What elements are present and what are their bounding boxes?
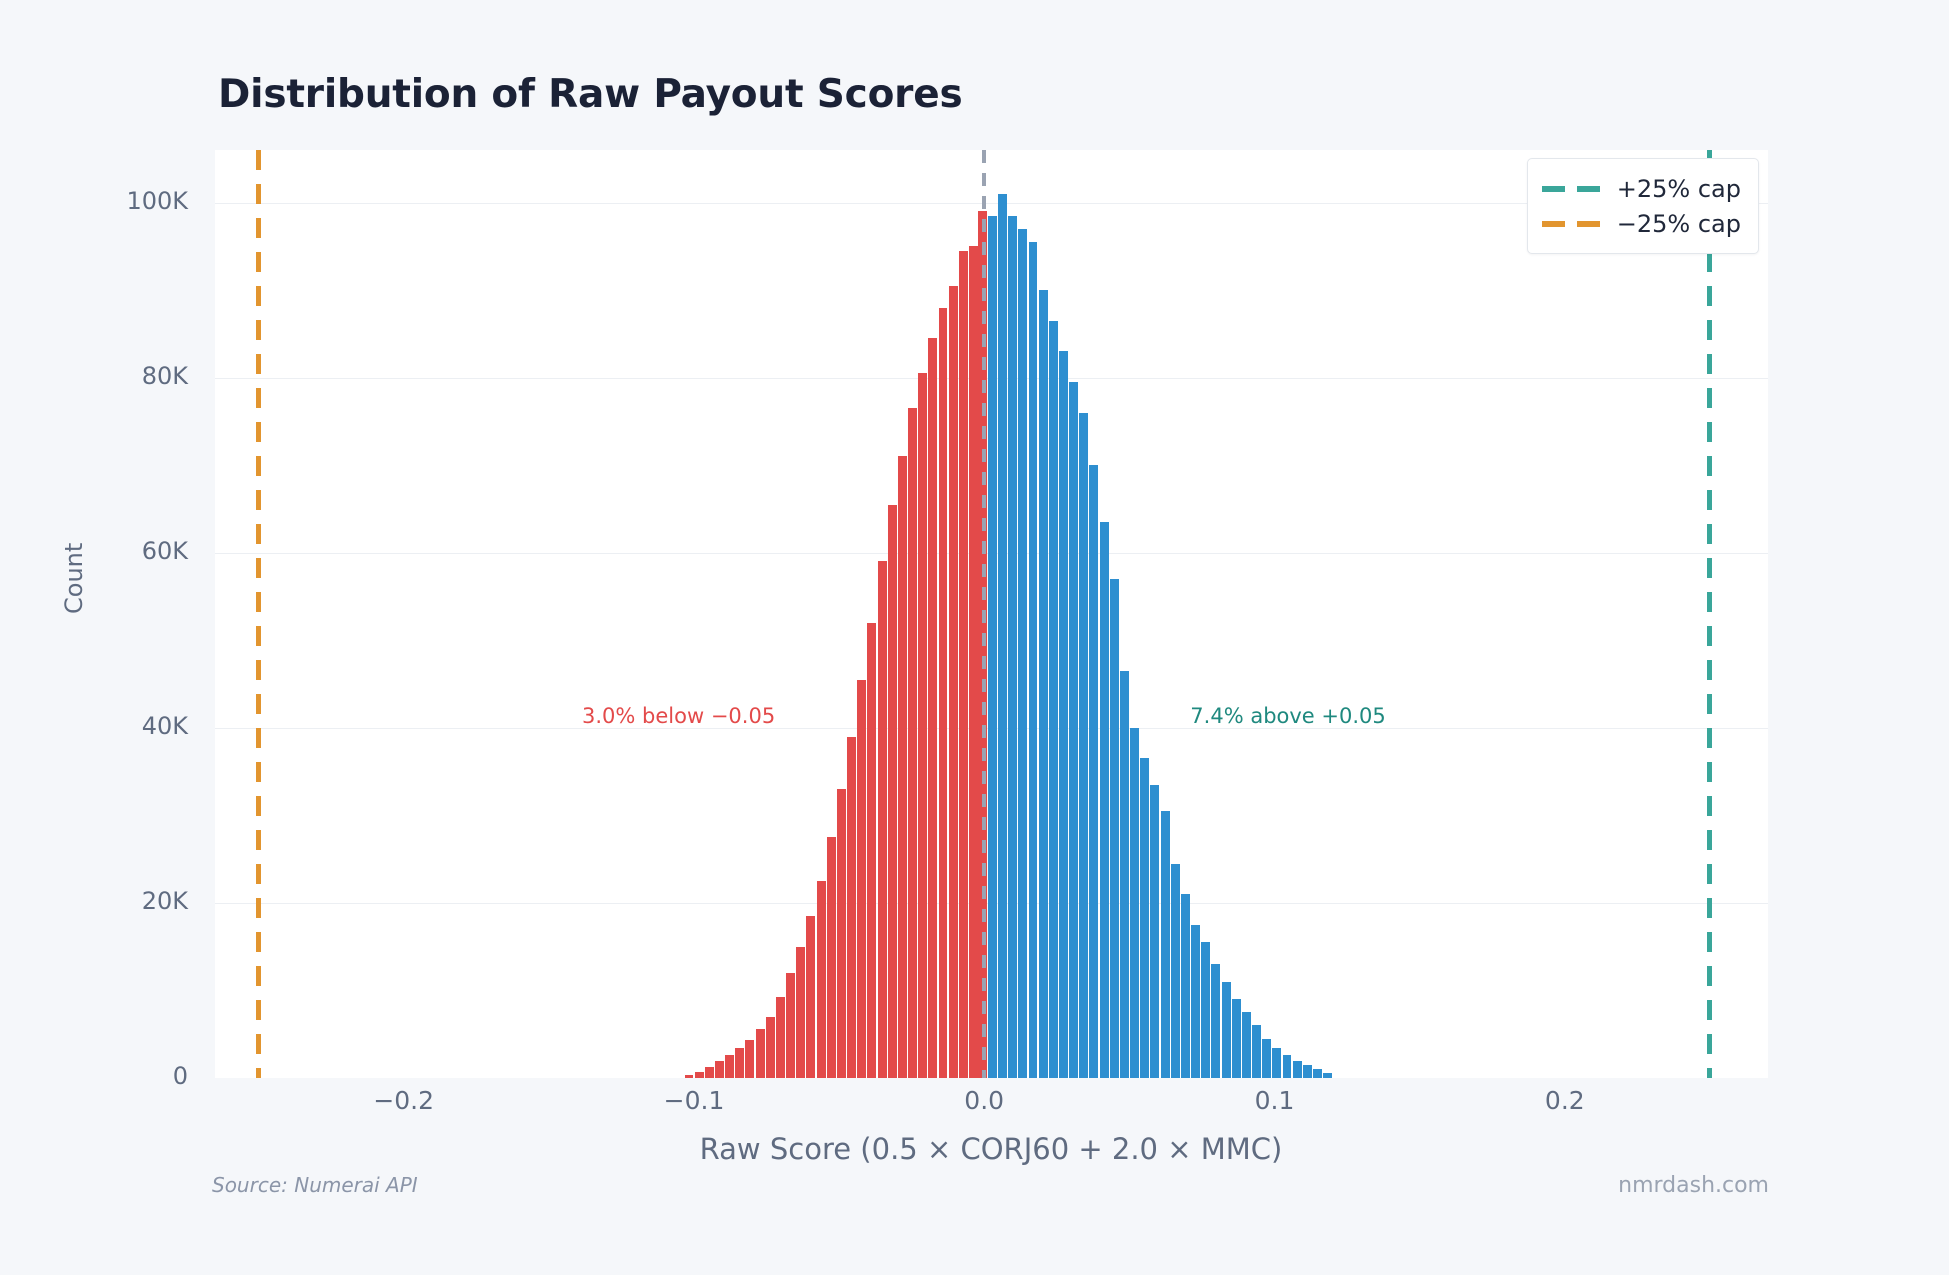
histogram-bar: [806, 916, 815, 1078]
y-axis-tick-label: 0: [173, 1062, 188, 1090]
legend-item-negative-cap[interactable]: −25% cap: [1542, 206, 1741, 241]
histogram-bar: [817, 881, 826, 1078]
histogram-bar: [827, 837, 836, 1078]
histogram-bar: [847, 737, 856, 1078]
chart-legend[interactable]: +25% cap −25% cap: [1527, 158, 1759, 254]
annotation-below-threshold: 3.0% below −0.05: [582, 704, 775, 728]
histogram-bar: [988, 216, 997, 1078]
legend-dash-icon-teal: [1542, 186, 1600, 192]
histogram-bar: [695, 1072, 704, 1078]
histogram-bar: [998, 194, 1007, 1078]
histogram-bar: [837, 789, 846, 1078]
histogram-bar: [1100, 522, 1109, 1078]
histogram-bar: [735, 1048, 744, 1078]
histogram-bar: [725, 1055, 734, 1078]
histogram-bar: [1029, 242, 1038, 1078]
histogram-bar: [1232, 999, 1241, 1078]
histogram-bar: [1039, 290, 1048, 1078]
histogram-bar: [1211, 964, 1220, 1078]
x-axis-label: Raw Score (0.5 × CORJ60 + 2.0 × MMC): [700, 1132, 1283, 1166]
histogram-bar: [1181, 894, 1190, 1078]
x-axis-tick-label: 0.1: [1255, 1086, 1295, 1115]
histogram-bar: [1242, 1012, 1251, 1078]
y-axis-tick-label: 20K: [142, 887, 188, 915]
annotation-above-threshold: 7.4% above +0.05: [1190, 704, 1385, 728]
y-axis-tick-label: 80K: [142, 362, 188, 390]
histogram-bar: [1140, 758, 1149, 1078]
legend-label-negative-cap: −25% cap: [1617, 210, 1741, 238]
histogram-bar: [1222, 982, 1231, 1078]
histogram-bar: [1130, 728, 1139, 1078]
histogram-bar: [857, 680, 866, 1078]
histogram-bar: [959, 251, 968, 1078]
histogram-bar: [1252, 1025, 1261, 1078]
histogram-bar: [756, 1029, 765, 1078]
histogram-bar: [766, 1017, 775, 1078]
x-axis-tick-label: 0.0: [964, 1086, 1004, 1115]
chart-figure: Distribution of Raw Payout Scores 020K40…: [0, 0, 1949, 1275]
histogram-bar: [969, 246, 978, 1078]
histogram-bar: [1283, 1055, 1292, 1078]
histogram-bar: [796, 947, 805, 1078]
histogram-bar: [715, 1061, 724, 1078]
watermark: nmrdash.com: [1618, 1173, 1769, 1198]
histogram-bar: [1323, 1073, 1332, 1078]
histogram-bar: [1008, 216, 1017, 1078]
histogram-bar: [898, 456, 907, 1078]
histogram-bar: [878, 561, 887, 1078]
histogram-bar: [1059, 351, 1068, 1078]
histogram-bar: [1262, 1039, 1271, 1078]
histogram-bar: [1120, 671, 1129, 1078]
histogram-bar: [1049, 321, 1058, 1078]
legend-dash-icon-orange: [1542, 221, 1600, 227]
histogram-bar: [888, 505, 897, 1078]
histogram-bar: [685, 1075, 694, 1078]
histogram-bar: [1313, 1069, 1322, 1078]
y-axis-tick-label: 100K: [126, 187, 188, 215]
histogram-bar: [1089, 465, 1098, 1078]
histogram-bar: [918, 373, 927, 1078]
histogram-bar: [705, 1067, 714, 1078]
y-axis-tick-label: 40K: [142, 712, 188, 740]
histogram-bar: [928, 338, 937, 1078]
histogram-bar: [1018, 229, 1027, 1078]
reference-line-zero-line: [982, 150, 986, 1078]
histogram-bar: [1272, 1048, 1281, 1078]
histogram-bar: [1161, 811, 1170, 1078]
histogram-bar: [867, 623, 876, 1078]
plot-area: 3.0% below −0.05 7.4% above +0.05 +25% c…: [215, 150, 1768, 1078]
legend-label-positive-cap: +25% cap: [1617, 175, 1741, 203]
histogram-bar: [1150, 785, 1159, 1078]
histogram-bar: [745, 1040, 754, 1078]
reference-line-negative-cap: [256, 150, 261, 1078]
histogram-bar: [1069, 382, 1078, 1078]
histogram-bar: [776, 997, 785, 1078]
histogram-bar: [786, 973, 795, 1078]
histogram-bar: [949, 286, 958, 1078]
histogram-bar: [939, 308, 948, 1078]
histogram-bars: [215, 150, 1768, 1078]
histogram-bar: [1110, 579, 1119, 1078]
reference-line-positive-cap: [1707, 150, 1712, 1078]
histogram-bar: [908, 408, 917, 1078]
x-axis-tick-label: 0.2: [1545, 1086, 1585, 1115]
histogram-bar: [1079, 413, 1088, 1078]
source-note: Source: Numerai API: [212, 1173, 418, 1197]
histogram-bar: [1303, 1065, 1312, 1078]
y-axis-tick-label: 60K: [142, 537, 188, 565]
x-axis-tick-label: −0.1: [664, 1086, 725, 1115]
y-axis-label: Count: [60, 543, 88, 614]
page-title: Distribution of Raw Payout Scores: [218, 72, 962, 117]
x-axis-tick-label: −0.2: [373, 1086, 434, 1115]
legend-item-positive-cap[interactable]: +25% cap: [1542, 171, 1741, 206]
histogram-bar: [1201, 942, 1210, 1078]
histogram-bar: [1293, 1061, 1302, 1079]
histogram-bar: [1171, 864, 1180, 1078]
histogram-bar: [1191, 925, 1200, 1078]
